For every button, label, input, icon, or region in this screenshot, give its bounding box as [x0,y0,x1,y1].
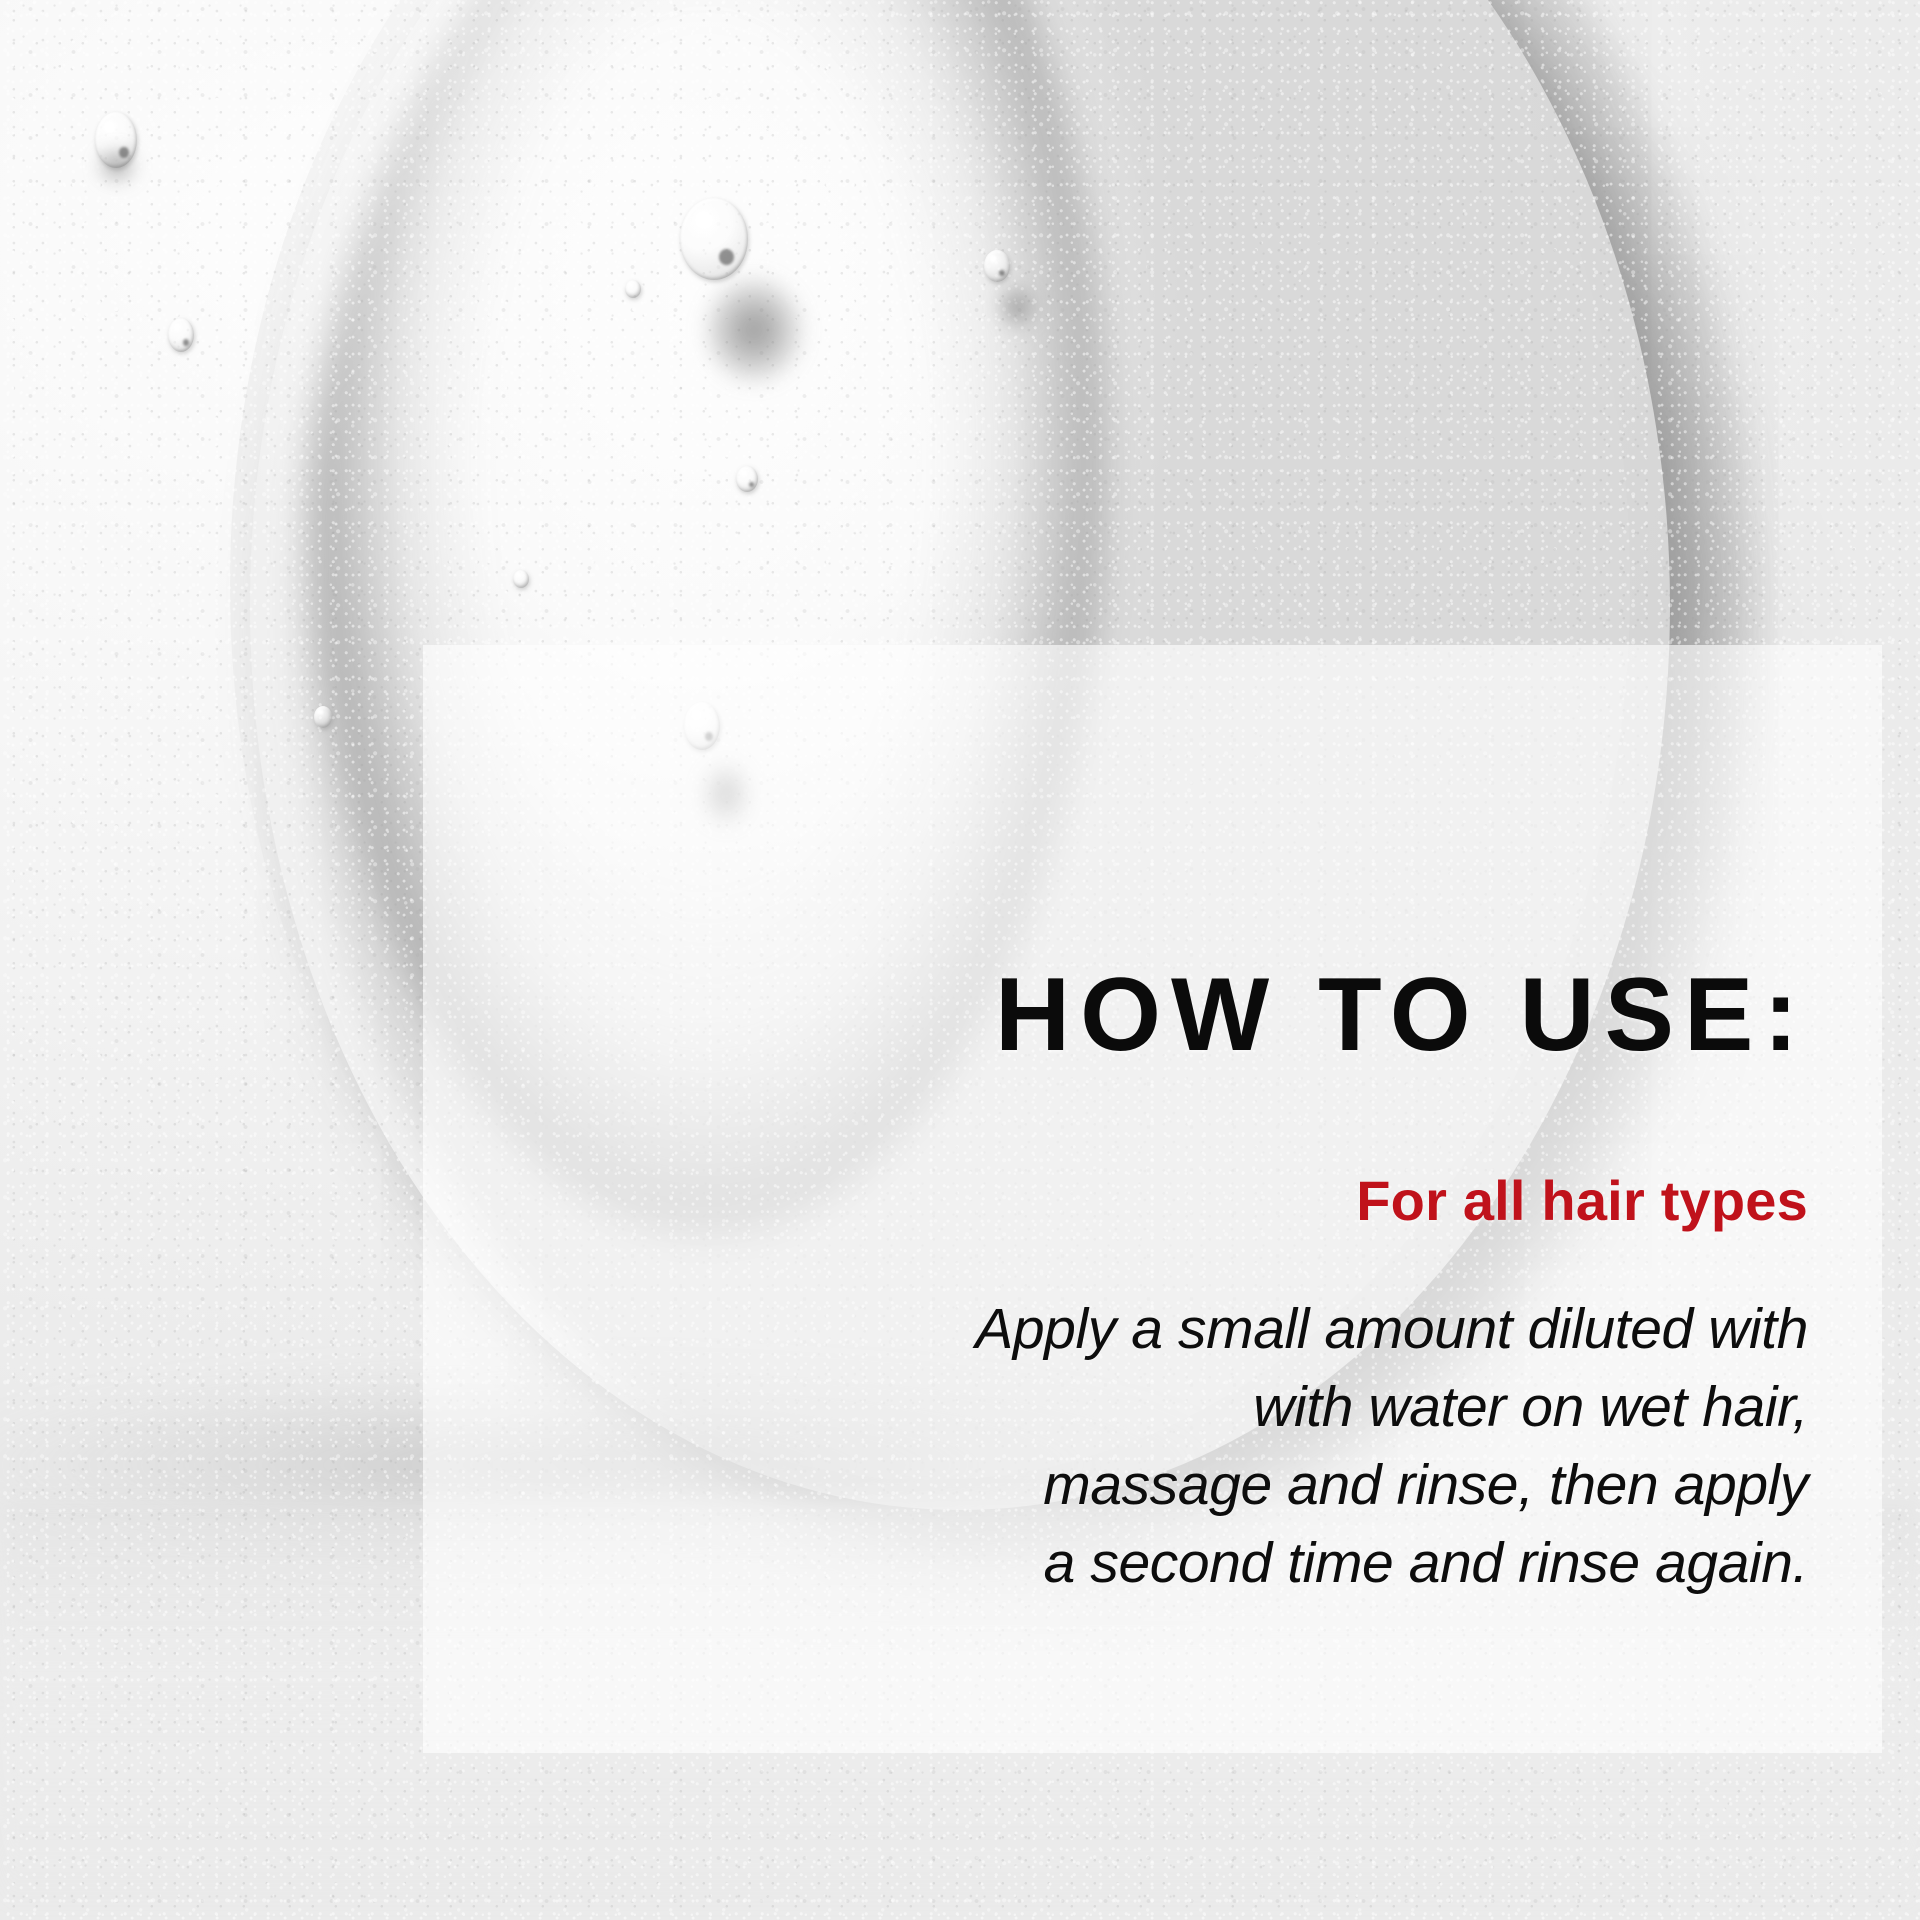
droplet-icon [680,198,748,280]
page-title: HOW TO USE: [995,963,1808,1067]
instructions-paragraph: Apply a small amount diluted with with w… [423,1290,1808,1602]
droplet-icon [513,570,529,588]
droplet-shadow [700,272,808,388]
instructions-line: with water on wet hair, [423,1368,1808,1446]
subhead-hair-types: For all hair types [1356,1173,1808,1229]
instructions-line: massage and rinse, then apply [423,1446,1808,1524]
droplet-icon [314,706,332,728]
droplet-icon [984,250,1010,282]
droplet-icon [736,466,758,492]
how-to-use-card: HOW TO USE: For all hair types Apply a s… [423,645,1882,1753]
droplet-icon [625,280,641,298]
droplet-icon [168,318,194,352]
droplet-shadow [998,284,1036,330]
card-content: HOW TO USE: For all hair types Apply a s… [423,645,1808,1753]
instructions-line: Apply a small amount diluted with [423,1290,1808,1368]
droplet-shadow [97,148,137,184]
instructions-line: a second time and rinse again. [423,1524,1808,1602]
screenshot-root: HOW TO USE: For all hair types Apply a s… [0,0,1920,1920]
